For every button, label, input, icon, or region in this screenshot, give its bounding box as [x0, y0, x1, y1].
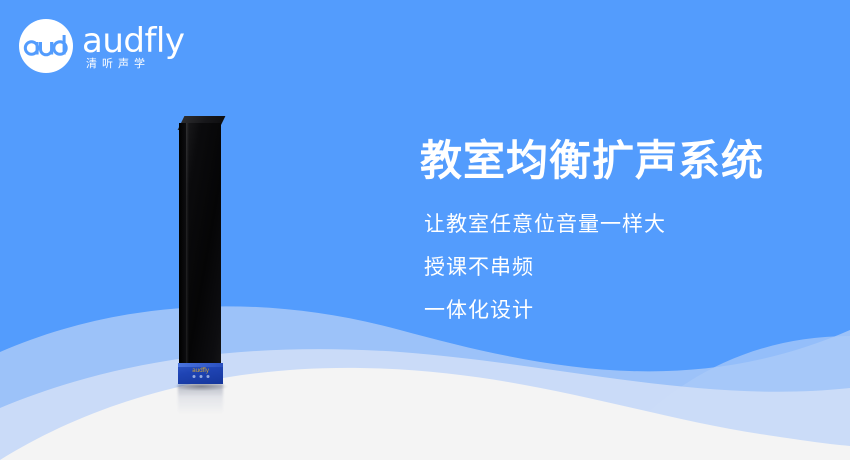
promo-banner: audfly 清听声学 audfly 教室均衡扩声系统 让教室任意位音量一样大 … — [0, 0, 850, 460]
brand-wordmark-text: audfly — [82, 24, 185, 58]
wave-pale-blue — [0, 349, 850, 460]
indicator-dot — [192, 375, 195, 378]
indicator-dot — [206, 375, 209, 378]
brand-logo[interactable]: audfly 清听声学 — [18, 16, 204, 76]
page-title: 教室均衡扩声系统 — [420, 135, 820, 187]
feature-list: 让教室任意位音量一样大 授课不串频 一体化设计 — [424, 203, 820, 332]
wave-white — [0, 368, 850, 460]
speaker-base-brand: audfly — [192, 367, 209, 374]
list-item: 让教室任意位音量一样大 — [424, 203, 820, 246]
speaker-base-indicators — [192, 375, 209, 378]
speaker-front-face — [186, 123, 221, 381]
brand-tagline: 清听声学 — [86, 58, 150, 70]
list-item: 授课不串频 — [424, 246, 820, 289]
list-item: 一体化设计 — [424, 289, 820, 332]
brand-wordmark: audfly 清听声学 — [82, 18, 204, 74]
speaker-base: audfly — [178, 363, 223, 384]
wave-light-blue-right — [570, 336, 850, 460]
copy-block: 教室均衡扩声系统 让教室任意位音量一样大 授课不串频 一体化设计 — [420, 135, 820, 332]
audfly-circle-logo-icon — [18, 18, 74, 74]
indicator-dot — [199, 375, 202, 378]
column-speaker-photo: audfly — [160, 100, 280, 420]
speaker-reflection — [178, 384, 223, 414]
